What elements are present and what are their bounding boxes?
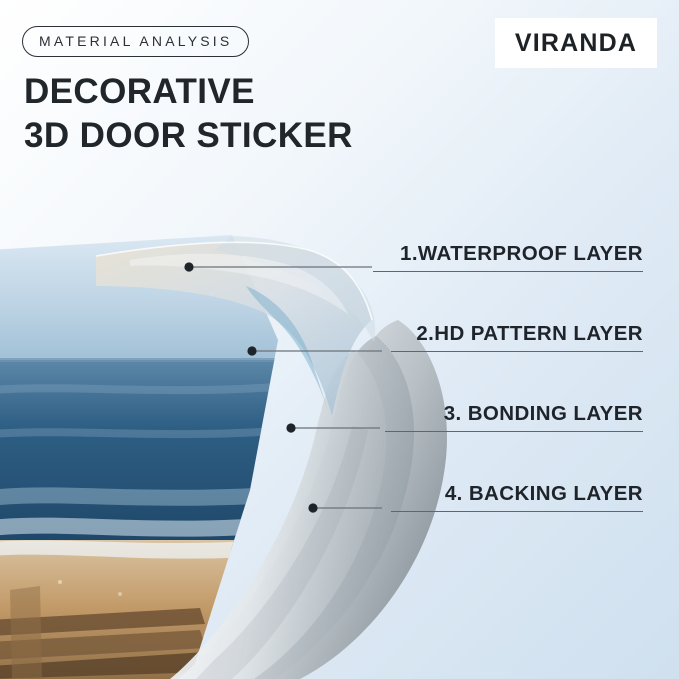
callout-label-4: 4. BACKING LAYER — [391, 482, 643, 512]
callout-rule-4 — [391, 511, 643, 512]
callout-label-2: 2.HD PATTERN LAYER — [391, 322, 643, 352]
callout-rule-3 — [385, 431, 643, 432]
eyebrow-badge: MATERIAL ANALYSIS — [22, 26, 249, 57]
callout-text-3: 3. BONDING LAYER — [444, 402, 643, 425]
brand-logo-box: VIRANDA — [495, 18, 657, 68]
callout-rule-1 — [373, 271, 643, 272]
callout-rule-2 — [391, 351, 643, 352]
brand-name: VIRANDA — [515, 29, 637, 58]
callout-text-4: 4. BACKING LAYER — [445, 482, 643, 505]
callout-text-1: 1.WATERPROOF LAYER — [400, 242, 643, 265]
callout-text-2: 2.HD PATTERN LAYER — [416, 322, 643, 345]
poster: MATERIAL ANALYSIS DECORATIVE 3D DOOR STI… — [0, 0, 679, 679]
callout-label-1: 1.WATERPROOF LAYER — [373, 242, 643, 272]
callout-label-3: 3. BONDING LAYER — [385, 402, 643, 432]
page-title: DECORATIVE 3D DOOR STICKER — [24, 70, 353, 158]
